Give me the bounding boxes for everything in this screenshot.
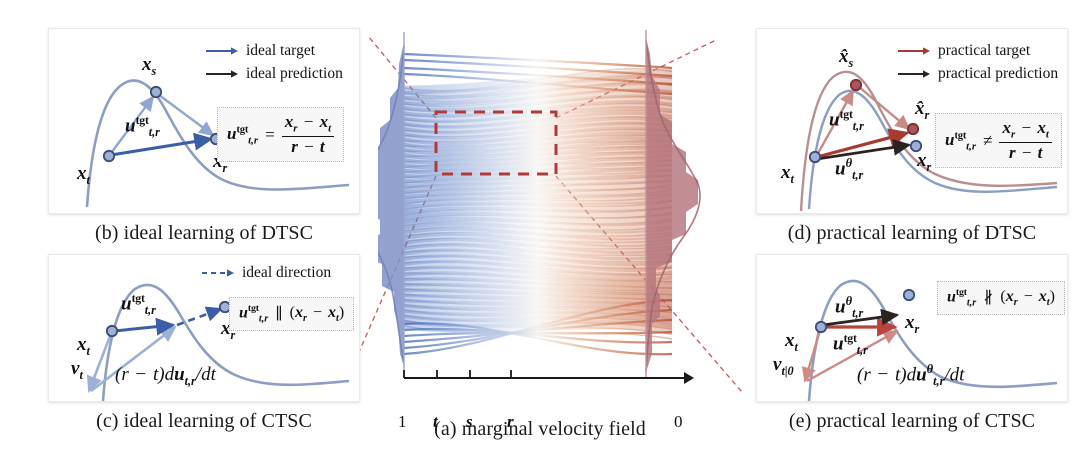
legend-item-ideal-prediction: ideal prediction <box>205 64 343 84</box>
panel-a-caption: (a) marginal velocity field <box>378 418 702 441</box>
legend-arrow-practical-prediction <box>897 68 931 80</box>
label-u-tgt: utgtt,r <box>833 333 868 356</box>
legend-label-practical-prediction: practical prediction <box>938 65 1058 83</box>
point-xt <box>816 322 826 332</box>
label-u-theta: uθt,r <box>835 295 863 319</box>
point-xr <box>904 290 914 300</box>
panel-d-relation: ≠ <box>981 131 994 151</box>
panel-c-legend: ideal direction <box>201 263 331 283</box>
label-xt: xt <box>781 163 794 185</box>
legend-item-practical-target: practical target <box>897 41 1058 61</box>
point-xt <box>810 152 820 162</box>
label-v-t0: vt|0 <box>773 355 794 377</box>
panel-b-relation: = <box>263 125 277 145</box>
label-xs: xs <box>142 55 156 77</box>
label-u-tgt: utgtt,r <box>125 115 160 138</box>
label-u-tgt: utgtt,r <box>829 109 864 132</box>
panel-e: xt vt|0 uθt,r utgtt,r xr (r − t)duθt,r/d… <box>756 254 1068 402</box>
label-u-tgt: utgtt,r <box>121 293 156 316</box>
label-vt: vt <box>71 359 83 381</box>
panel-b-formula: utgtt,r = xr − xt r − t <box>217 107 344 162</box>
panel-d-formula: utgtt,r ≠ xr − xt r − t <box>935 113 1062 168</box>
point-xt <box>107 326 117 336</box>
legend-label-practical-target: practical target <box>938 42 1030 60</box>
velocity-field-svg <box>378 24 702 384</box>
point-xhat-r <box>908 124 918 134</box>
panel-c: xt vt utgtt,r xr (r − t)dut,r/dt ideal d… <box>48 254 360 402</box>
legend-label-ideal-direction: ideal direction <box>242 264 331 282</box>
panel-d-caption: (d) practical learning of DTSC <box>744 222 1080 245</box>
panel-e-formula: utgtt,r ∦ (xr − xt) <box>937 281 1065 315</box>
panel-e-relation: ∦ <box>981 288 995 308</box>
legend-item-practical-prediction: practical prediction <box>897 64 1058 84</box>
panel-b-legend: ideal target ideal prediction <box>205 41 343 84</box>
arrow-u-tgt <box>114 325 173 331</box>
point-xhat-s <box>851 80 861 90</box>
label-xhat-r: x̂r <box>915 99 929 121</box>
point-xs <box>151 87 161 97</box>
panel-b: xt xs xr utgtt,r ideal target ideal pred… <box>48 28 360 214</box>
panel-b-caption: (b) ideal learning of DTSC <box>48 222 360 245</box>
trajectory-outer <box>404 60 672 76</box>
panel-c-relation: ∥ <box>273 304 284 324</box>
label-u-theta: uθt,r <box>835 157 863 181</box>
label-xr: xr <box>905 313 919 335</box>
label-xr: xr <box>917 151 931 173</box>
panel-d: xt x̂s x̂r xr utgtt,r uθt,r practical ta… <box>756 28 1068 214</box>
legend-label-ideal-prediction: ideal prediction <box>246 65 343 83</box>
label-derivative: (r − t)duθt,r/dt <box>857 363 964 387</box>
arrow-xhat-s-to-xhat-r <box>859 87 909 129</box>
legend-item-ideal-direction: ideal direction <box>201 263 331 283</box>
label-xt: xt <box>77 164 90 186</box>
legend-arrow-practical-target <box>897 45 931 57</box>
label-xt: xt <box>785 331 798 353</box>
legend-label-ideal-target: ideal target <box>246 42 315 60</box>
arrow-ideal-target <box>111 139 211 155</box>
panel-d-legend: practical target practical prediction <box>897 41 1058 84</box>
panel-e-caption: (e) practical learning of CTSC <box>744 410 1080 433</box>
label-xhat-s: x̂s <box>839 47 853 69</box>
figure-root: 1 t s r 0 (a) marginal velocity field <box>0 0 1080 454</box>
legend-arrow-ideal-direction <box>201 267 235 279</box>
panel-c-formula: utgtt,r ∥ (xr − xt) <box>229 297 354 331</box>
left-marginal-distribution <box>378 32 404 376</box>
label-derivative: (r − t)dut,r/dt <box>115 365 216 387</box>
label-xt: xt <box>77 335 90 357</box>
point-xt <box>104 151 114 161</box>
time-axis <box>404 370 694 384</box>
panel-a-velocity-field: 1 t s r 0 <box>378 24 702 384</box>
legend-arrow-ideal-target <box>205 45 239 57</box>
legend-arrow-ideal-prediction <box>205 68 239 80</box>
legend-item-ideal-target: ideal target <box>205 41 343 61</box>
panel-c-caption: (c) ideal learning of CTSC <box>48 410 360 433</box>
